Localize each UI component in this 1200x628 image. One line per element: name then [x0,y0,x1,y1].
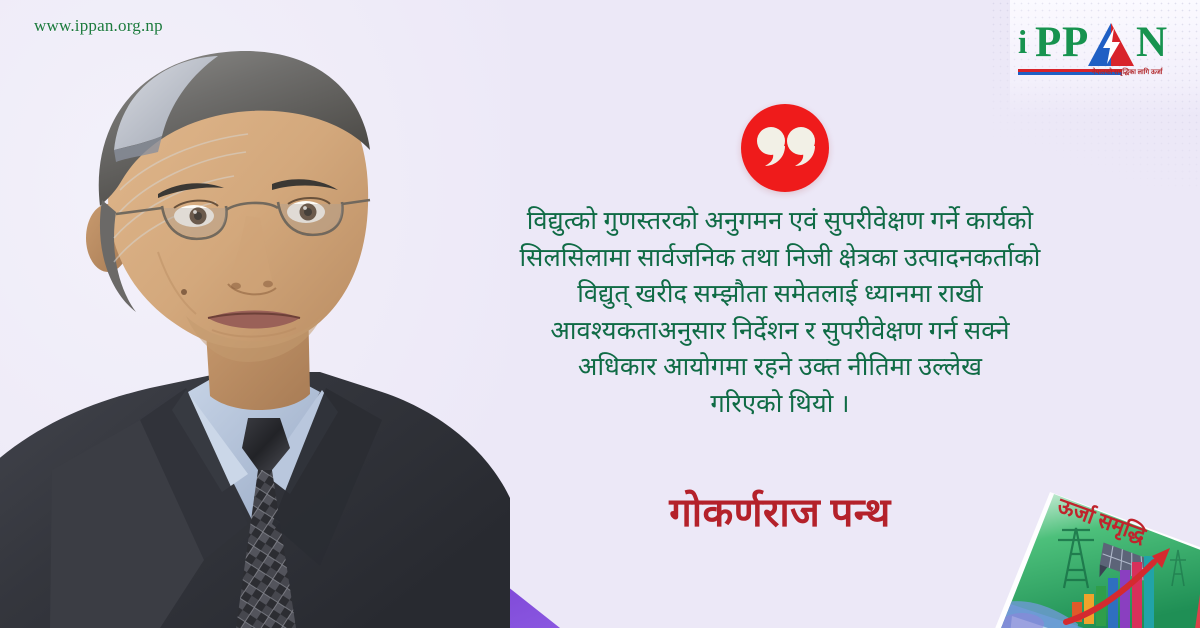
logo-letter-p1: P [1035,20,1061,66]
quote-line-4: आवश्यकताअनुसार निर्देशन र सुपरीवेक्षण गर… [430,313,1130,350]
quotation-mark-icon [741,104,829,192]
logo-letter-i: i [1018,20,1027,66]
quote-line-5: अधिकार आयोगमा रहने उक्त नीतिमा उल्लेख [430,349,1130,386]
ippan-wordmark: i P P N नेपालको समृद्धिका लागि ऊर्जा [1018,20,1178,66]
logo-tagline: नेपालको समृद्धिका लागि ऊर्जा [1092,68,1171,76]
quote-line-2: सिलसिलामा सार्वजनिक तथा निजी क्षेत्रका उ… [430,240,1130,277]
logo-letter-p2: P [1062,20,1088,66]
quote-line-1: विद्युत्को गुणस्तरको अनुगमन एवं सुपरीवेक… [430,203,1130,240]
logo-letter-n: N [1136,20,1167,66]
site-watermark: www.ippan.org.np [34,16,163,36]
quote-line-3: विद्युत् खरीद सम्झौता समेतलाई ध्यानमा रा… [430,276,1130,313]
author-name: गोकर्णराज पन्थ [430,487,1130,539]
quote-card: www.ippan.org.np [0,0,1200,628]
logo-letter-a-lightning-icon [1088,23,1134,66]
quote-text: विद्युत्को गुणस्तरको अनुगमन एवं सुपरीवेक… [430,203,1130,422]
quote-line-6: गरिएको थियो । [430,386,1130,423]
ippan-logo[interactable]: i P P N नेपालको समृद्धिका लागि ऊर्जा [1018,20,1178,92]
